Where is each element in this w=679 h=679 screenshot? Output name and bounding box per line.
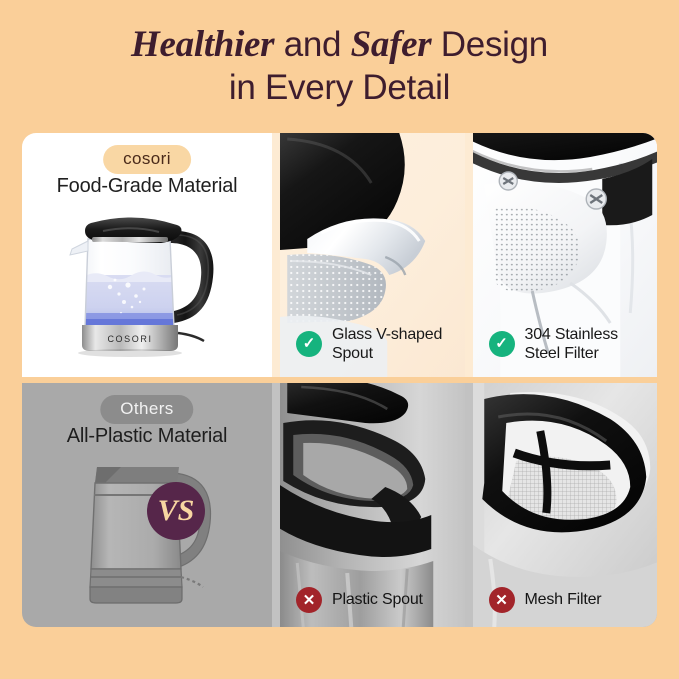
kettle-brand-mark: COSORI bbox=[107, 334, 152, 344]
check-icon: ✓ bbox=[489, 331, 515, 357]
screw-icon bbox=[499, 172, 517, 190]
vs-badge: VS bbox=[147, 482, 205, 540]
others-material-label: All-Plastic Material bbox=[67, 425, 227, 448]
cross-icon: ✕ bbox=[296, 587, 322, 613]
feature-tag-steel-filter: ✓ 304 Stainless Steel Filter bbox=[489, 325, 618, 363]
feature-label-steel-filter: 304 Stainless Steel Filter bbox=[525, 325, 618, 363]
brand-badge-others: Others bbox=[100, 395, 193, 424]
title-word-design: Design bbox=[431, 25, 548, 64]
title-conjunction: and bbox=[274, 25, 350, 64]
others-filter-photo-cell: ✕ Mesh Filter bbox=[473, 383, 658, 627]
cosori-material-label: Food-Grade Material bbox=[57, 175, 238, 198]
cosori-filter-photo-cell: ✓ 304 Stainless Steel Filter bbox=[473, 133, 658, 377]
comparison-board: cosori Food-Grade Material bbox=[22, 133, 657, 627]
title-emphasis-healthier: Healthier bbox=[131, 24, 274, 65]
panel-divider-4 bbox=[465, 383, 473, 627]
title-line-1: Healthier and Safer Design bbox=[0, 22, 679, 67]
cosori-spout-photo-cell: ✓ Glass V-shaped Spout bbox=[280, 133, 465, 377]
plastic-kettle-image bbox=[61, 457, 233, 607]
title-line-2: in Every Detail bbox=[0, 67, 679, 110]
panel-divider-1 bbox=[272, 133, 280, 377]
cross-icon: ✕ bbox=[489, 587, 515, 613]
feature-tag-glass-spout: ✓ Glass V-shaped Spout bbox=[296, 325, 442, 363]
screw-icon bbox=[586, 189, 606, 209]
feature-label-plastic-spout: Plastic Spout bbox=[332, 590, 423, 609]
panel-divider-3 bbox=[272, 383, 280, 627]
feature-label-glass-spout: Glass V-shaped Spout bbox=[332, 325, 442, 363]
panel-divider-2 bbox=[465, 133, 473, 377]
feature-label-mesh-filter: Mesh Filter bbox=[525, 590, 602, 609]
feature-tag-plastic-spout: ✕ Plastic Spout bbox=[296, 587, 423, 613]
comparison-row-others: Others All-Plastic Material bbox=[22, 383, 657, 627]
cosori-product-cell: cosori Food-Grade Material bbox=[22, 133, 272, 377]
check-icon: ✓ bbox=[296, 331, 322, 357]
feature-tag-mesh-filter: ✕ Mesh Filter bbox=[489, 587, 602, 613]
others-spout-photo-cell: ✕ Plastic Spout bbox=[280, 383, 465, 627]
title-emphasis-safer: Safer bbox=[351, 24, 432, 65]
brand-badge-cosori: cosori bbox=[103, 145, 191, 174]
glass-kettle-image: COSORI bbox=[58, 201, 236, 369]
comparison-row-cosori: cosori Food-Grade Material bbox=[22, 133, 657, 377]
page-title: Healthier and Safer Design in Every Deta… bbox=[0, 22, 679, 110]
